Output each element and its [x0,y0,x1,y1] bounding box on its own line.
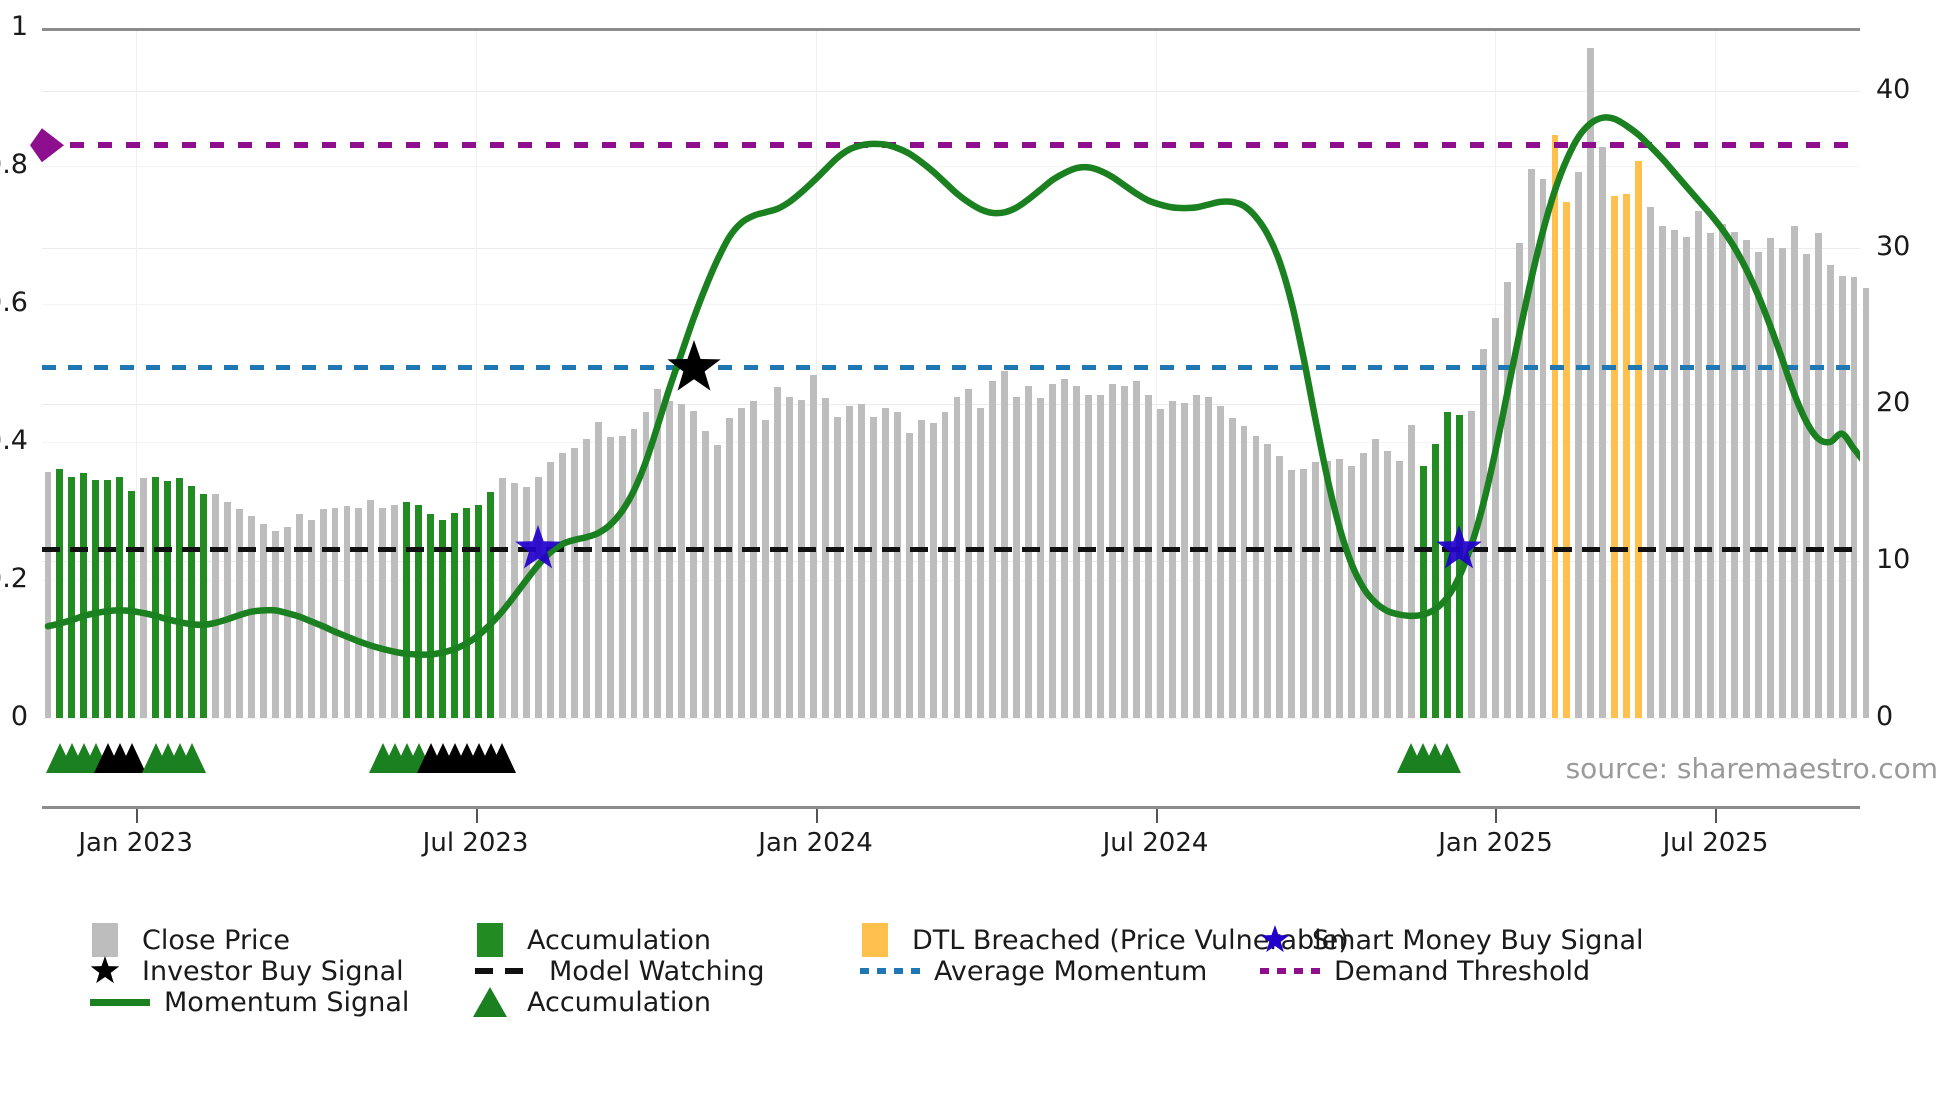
x-axis-tick-label: Jul 2023 [423,828,529,858]
bar-close-price [1575,172,1582,718]
legend-swatch-dotted [860,951,920,991]
bar-accumulation [104,480,111,718]
bar-close-price [965,389,972,718]
bar-close-price [1827,265,1834,718]
bar-close-price [296,514,303,718]
bar-close-price [846,406,853,718]
bar-close-price [1779,248,1786,718]
bar-close-price [1755,252,1762,718]
bar-close-price [344,506,351,718]
bar-close-price [511,483,518,718]
y-axis-left-tick-label: 0.4 [0,425,28,456]
bar-close-price [1599,147,1606,718]
bar-close-price [762,420,769,718]
bar-close-price [1037,398,1044,718]
bar-accumulation [128,491,135,718]
bar-accumulation [487,492,494,718]
bar-close-price [1372,439,1379,718]
legend-item[interactable]: Demand Threshold [1260,951,1590,991]
legend-item-label: Momentum Signal [164,987,409,1018]
bar-close-price [1803,254,1810,718]
bar-accumulation [200,494,207,718]
bar-close-price [1276,456,1283,718]
bar-close-price [1229,418,1236,718]
bar-close-price [1241,426,1248,718]
bar-accumulation [403,502,410,718]
dashed-line-icon [475,968,535,974]
bar-close-price [1767,238,1774,718]
x-axis: Jan 2023Jul 2023Jan 2024Jul 2024Jan 2025… [42,806,1860,876]
bar-close-price [1157,409,1164,718]
bar-close-price [894,412,901,718]
x-axis-tick-label: Jan 2024 [758,828,873,858]
bar-accumulation [68,477,75,719]
y-axis-right-tick-label: 40 [1876,74,1946,105]
legend-swatch-triangle [475,982,505,1022]
bar-close-price [738,408,745,719]
bar-accumulation [176,478,183,718]
bar-close-price [1731,232,1738,718]
smart-money-buy-signal-star [1435,525,1483,573]
bar-close-price [750,401,757,718]
bar-close-price [1324,461,1331,718]
demand-threshold-line [42,142,1860,148]
line-icon [90,999,150,1006]
bar-close-price [1516,243,1523,718]
model-watching-line [42,547,1860,552]
bar-close-price [678,404,685,718]
source-note: source: sharemaestro.com [1566,752,1938,785]
bar-close-price [942,412,949,718]
bar-dtl-breached [1623,194,1630,718]
bar-close-price [870,417,877,718]
legend-swatch-dotted [1260,951,1320,991]
bar-close-price [906,433,913,718]
x-axis-tick [476,809,478,823]
bar-close-price [224,502,231,718]
triangle-icon [473,987,507,1017]
bar-close-price [547,462,554,718]
bar-accumulation [1420,466,1427,718]
bar-close-price [1683,237,1690,718]
x-axis-line [42,806,1860,809]
bar-close-price [1707,233,1714,718]
legend-swatch-line [90,982,150,1022]
bar-close-price [355,508,362,718]
bar-accumulation [415,505,422,718]
bar-close-price [1336,459,1343,718]
bar-accumulation [164,481,171,718]
bar-close-price [1839,276,1846,718]
bar-close-price [858,404,865,718]
bar-close-price [1217,406,1224,718]
y-axis-right-tick-label: 20 [1876,387,1946,418]
bar-accumulation [80,473,87,718]
bar-close-price [702,431,709,718]
smart-money-buy-signal-star [514,525,562,573]
legend-item[interactable]: Momentum Signal [90,982,409,1022]
bar-close-price [1396,461,1403,718]
bar-close-price [1205,397,1212,718]
investor-buy-signal-star [666,340,722,396]
accumulation-triangle [1433,743,1461,773]
bar-close-price [774,387,781,718]
y-axis-left-tick-label: 1 [0,11,28,42]
bar-close-price [1671,230,1678,718]
bar-close-price [583,439,590,718]
bar-close-price [1193,395,1200,718]
bar-accumulation [188,486,195,718]
bar-close-price [320,509,327,718]
bar-close-price [379,508,386,718]
bar-close-price [571,448,578,718]
bar-close-price [1264,444,1271,718]
bar-close-price [1504,282,1511,718]
bar-close-price [332,508,339,718]
bar-close-price [1253,436,1260,718]
chart-root: 00.20.40.60.81 010203040 Jan 2023Jul 202… [0,0,1960,1102]
bar-close-price [977,408,984,719]
bar-close-price [212,494,219,718]
bar-dtl-breached [1635,161,1642,718]
x-axis-tick-label: Jul 2024 [1103,828,1209,858]
legend-item-label: Average Momentum [934,956,1207,987]
bar-close-price [798,400,805,718]
bar-close-price [1815,233,1822,718]
demand-threshold-marker [30,128,64,162]
star-icon [514,525,562,573]
bar-close-price [45,472,52,718]
bar-close-price [834,417,841,718]
accumulation-triangle [178,743,206,773]
bar-close-price [822,398,829,718]
bar-close-price [631,429,638,718]
bar-close-price [1384,451,1391,718]
x-axis-tick [1495,809,1497,823]
bar-close-price [1791,226,1798,718]
star-icon [1435,525,1483,573]
bar-close-price [1001,371,1008,718]
bar-close-price [643,412,650,718]
bar-close-price [140,478,147,718]
average-momentum-line [42,365,1860,370]
bar-close-price [619,436,626,718]
y-axis-left-tick-label: 0.8 [0,149,28,180]
bar-accumulation [1432,444,1439,718]
x-axis-tick-label: Jan 2023 [78,828,193,858]
bar-close-price [1013,397,1020,718]
bar-accumulation [427,514,434,718]
bar-close-price [726,418,733,718]
bar-close-price [1743,240,1750,718]
y-axis-left-tick-label: 0 [0,701,28,732]
bar-close-price [260,524,267,718]
bar-close-price [1540,179,1547,718]
x-axis-tick-label: Jul 2025 [1663,828,1769,858]
bar-close-price [595,422,602,718]
legend-item[interactable]: Average Momentum [860,951,1207,991]
bar-close-price [236,509,243,718]
accumulation-triangle [488,743,516,773]
vertical-gridline [136,28,137,718]
bar-close-price [1145,395,1152,718]
bar-close-price [1695,211,1702,718]
bar-close-price [714,445,721,718]
bar-close-price [954,397,961,718]
bar-close-price [786,397,793,718]
chart-legend: Close PriceAccumulationDTL Breached (Pri… [60,920,1940,1070]
plot-bottom-axis [42,28,1860,31]
bar-dtl-breached [1611,196,1618,718]
legend-item[interactable]: Accumulation [475,982,711,1022]
x-axis-tick-label: Jan 2025 [1438,828,1553,858]
bar-close-price [918,420,925,718]
bar-close-price [882,408,889,719]
y-axis-left-tick-label: 0.2 [0,563,28,594]
y-axis-right-tick-label: 10 [1876,544,1946,575]
dotted-line-icon [860,968,920,974]
bar-close-price [1647,207,1654,718]
bar-close-price [1181,403,1188,718]
bar-close-price [1360,453,1367,718]
bar-close-price [1085,395,1092,718]
bar-close-price [284,527,291,718]
bar-close-price [607,437,614,718]
x-axis-tick [136,809,138,823]
bar-close-price [1587,48,1594,718]
bar-close-price [1300,469,1307,718]
bar-close-price [1097,395,1104,718]
bar-close-price [1348,466,1355,718]
bar-close-price [1288,470,1295,718]
bar-dtl-breached [1563,202,1570,718]
gridline [42,718,1860,719]
x-axis-tick [816,809,818,823]
bar-close-price [1408,425,1415,718]
bar-close-price [1851,277,1858,718]
bar-close-price [499,478,506,718]
bar-close-price [654,389,661,718]
y-axis-right-tick-label: 30 [1876,231,1946,262]
bar-accumulation [92,480,99,718]
bar-accumulation [116,477,123,719]
bar-close-price [1169,401,1176,718]
plot-area [42,28,1860,718]
bar-close-price [1719,224,1726,718]
bar-accumulation [56,469,63,718]
bar-close-price [1659,226,1666,718]
bar-close-price [666,401,673,718]
bar-close-price [690,411,697,718]
bar-accumulation [463,508,470,718]
y-axis-right-tick-label: 0 [1876,701,1946,732]
bar-accumulation [451,513,458,718]
bar-close-price [1312,462,1319,718]
bar-close-price [559,453,566,718]
bar-close-price [523,487,530,718]
x-axis-tick [1156,809,1158,823]
dotted-line-icon [1260,968,1320,974]
bar-close-price [272,531,279,718]
bar-close-price [391,505,398,718]
bar-close-price [1863,288,1870,718]
bar-close-price [930,423,937,718]
vertical-gridline [1715,28,1716,718]
y-axis-left-tick-label: 0.6 [0,287,28,318]
x-axis-tick [1715,809,1717,823]
bar-accumulation [152,477,159,719]
bar-dtl-breached [1552,135,1559,718]
bar-close-price [1492,318,1499,718]
bar-close-price [367,500,374,718]
legend-item-label: Demand Threshold [1334,956,1590,987]
bar-close-price [535,477,542,719]
legend-item-label: Accumulation [527,987,711,1018]
bar-accumulation [475,505,482,718]
bar-close-price [1528,169,1535,718]
star-icon [666,340,722,396]
